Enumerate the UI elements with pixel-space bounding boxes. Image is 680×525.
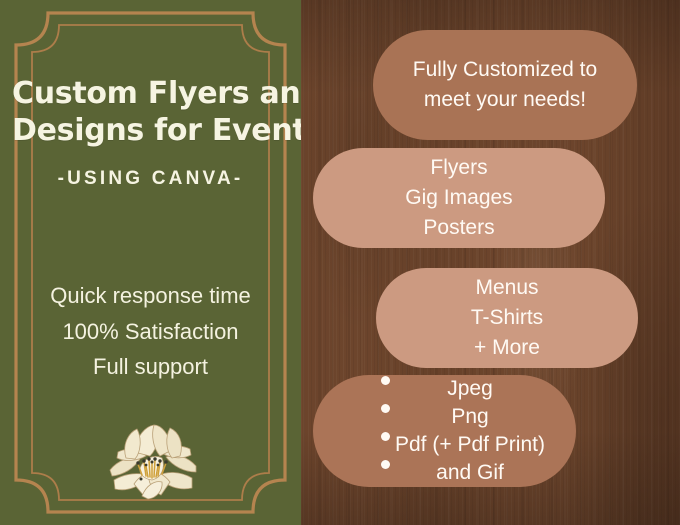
pill-customization: Fully Customized to meet your needs! <box>373 30 637 140</box>
benefit-item: Quick response time <box>16 278 285 314</box>
headline-line-1: Custom Flyers and <box>12 76 289 113</box>
promo-graphic: Custom Flyers and Designs for Events -US… <box>0 0 680 525</box>
pill-file-formats: Jpeg Png Pdf (+ Pdf Print) and Gif <box>313 375 576 487</box>
pill-line: Pdf (+ Pdf Print) <box>390 431 550 459</box>
benefit-item: 100% Satisfaction <box>16 314 285 350</box>
bullet-dot-icon <box>381 460 390 488</box>
pill-line: Posters <box>405 213 512 243</box>
bullet-dot-icon <box>381 404 390 432</box>
bullet-dot-icon <box>381 432 390 460</box>
pill-line: Flyers <box>405 153 512 183</box>
headline-line-2: Designs for Events <box>12 113 289 150</box>
page-title: Custom Flyers and Designs for Events <box>12 76 289 149</box>
subtitle-using-canva: -USING CANVA- <box>12 168 289 190</box>
pill-line: Png <box>390 403 550 431</box>
pill-line: and Gif <box>390 459 550 487</box>
pill-line: Jpeg <box>390 375 550 403</box>
pill-line: T-Shirts <box>471 303 543 333</box>
bullet-markers <box>341 374 390 488</box>
bullet-dot-icon <box>381 376 390 404</box>
magnolia-flower-icon <box>104 418 202 500</box>
pill-line: Fully Customized to <box>413 55 597 85</box>
benefit-item: Full support <box>16 349 285 385</box>
pill-line: Menus <box>471 273 543 303</box>
benefits-list: Quick response time 100% Satisfaction Fu… <box>16 278 285 385</box>
pill-print-products: Flyers Gig Images Posters <box>313 148 605 248</box>
file-format-list: Jpeg Png Pdf (+ Pdf Print) and Gif <box>390 375 576 487</box>
pill-line: meet your needs! <box>413 85 597 115</box>
pill-line: Gig Images <box>405 183 512 213</box>
left-green-panel: Custom Flyers and Designs for Events -US… <box>0 0 301 525</box>
